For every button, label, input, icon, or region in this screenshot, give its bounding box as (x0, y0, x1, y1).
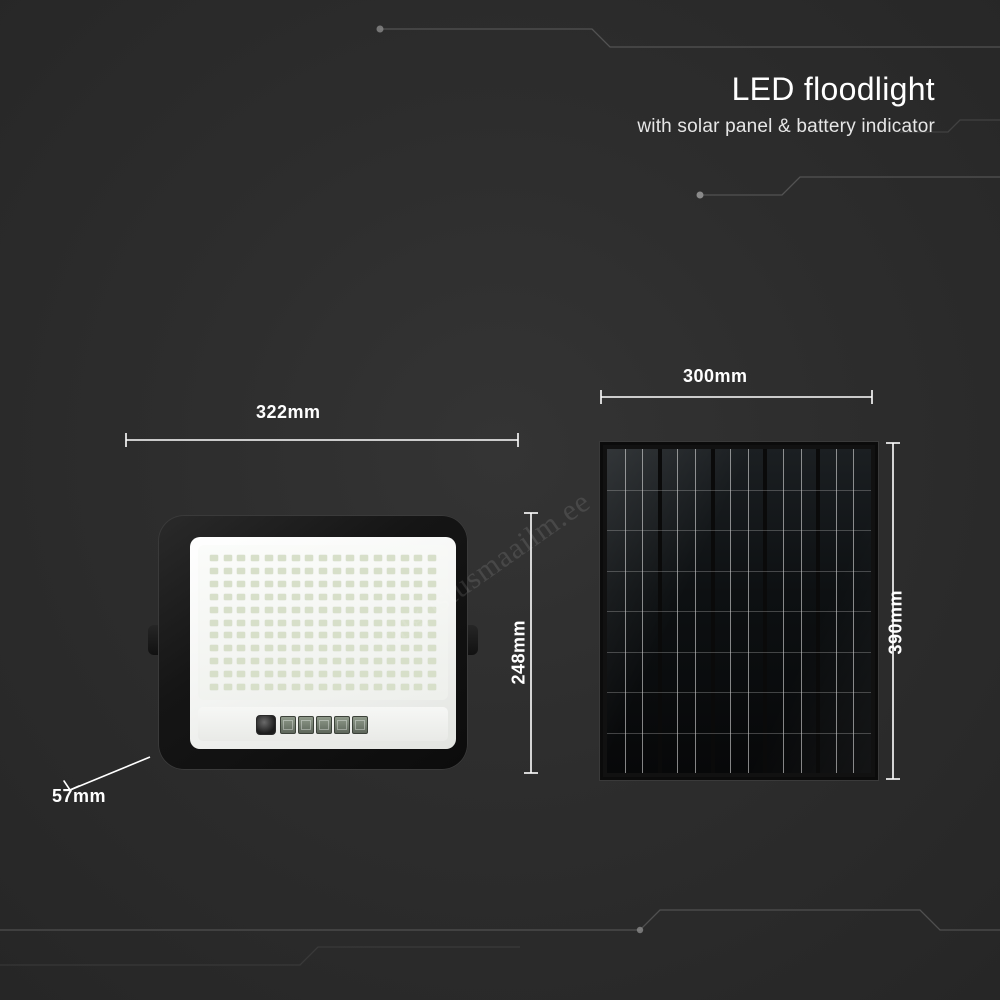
led-chip (224, 581, 232, 587)
led-chip (305, 684, 313, 690)
led-chip (414, 581, 422, 587)
led-chip (305, 645, 313, 651)
dimension-floodlight-width: 322mm (256, 402, 321, 423)
led-chip (237, 645, 245, 651)
led-chip (292, 632, 300, 638)
led-chip (333, 581, 341, 587)
battery-cell (280, 716, 296, 734)
led-chip (292, 594, 300, 600)
solar-cell-row-line (607, 652, 871, 653)
header: LED floodlight with solar panel & batter… (637, 72, 935, 138)
led-chip (210, 620, 218, 626)
led-chip (319, 658, 327, 664)
led-chip (387, 607, 395, 613)
led-chip (278, 555, 286, 561)
floodlight-product (148, 515, 478, 770)
led-chip (414, 684, 422, 690)
led-chip (210, 684, 218, 690)
led-chip (265, 594, 273, 600)
battery-indicator (280, 716, 368, 734)
led-chip (278, 632, 286, 638)
led-chip (401, 607, 409, 613)
led-chip (346, 645, 354, 651)
led-chip (265, 555, 273, 561)
led-chip (333, 568, 341, 574)
led-chip (414, 671, 422, 677)
led-chip (374, 658, 382, 664)
led-chip (237, 620, 245, 626)
led-chip (374, 568, 382, 574)
led-chip (346, 671, 354, 677)
led-chip (278, 671, 286, 677)
led-chip (428, 555, 436, 561)
led-chip (224, 658, 232, 664)
led-chip (346, 620, 354, 626)
led-chip (319, 581, 327, 587)
led-chip (292, 581, 300, 587)
led-chip (428, 632, 436, 638)
led-chip (319, 594, 327, 600)
led-chip (292, 684, 300, 690)
led-chip (428, 581, 436, 587)
dimension-solar-height: 390mm (886, 575, 907, 655)
led-array (198, 545, 448, 700)
led-chip (278, 594, 286, 600)
led-chip (292, 658, 300, 664)
led-chip (251, 658, 259, 664)
led-chip (210, 594, 218, 600)
floodlight-front-face (190, 537, 456, 749)
led-chip (210, 607, 218, 613)
led-chip (360, 620, 368, 626)
led-chip (251, 555, 259, 561)
solar-cell-row-line (607, 733, 871, 734)
dimension-floodlight-depth: 57mm (52, 786, 106, 807)
led-chip (319, 555, 327, 561)
led-chip (374, 581, 382, 587)
led-chip (428, 671, 436, 677)
led-chip (237, 568, 245, 574)
led-chip (360, 684, 368, 690)
led-chip (319, 632, 327, 638)
led-chip (333, 671, 341, 677)
led-chip (278, 607, 286, 613)
battery-cell (298, 716, 314, 734)
led-chip (265, 671, 273, 677)
led-chip (387, 658, 395, 664)
led-chip (333, 684, 341, 690)
led-chip (265, 620, 273, 626)
led-chip (360, 658, 368, 664)
led-chip (278, 645, 286, 651)
page-subtitle: with solar panel & battery indicator (637, 116, 935, 138)
led-chip (237, 632, 245, 638)
led-chip (333, 594, 341, 600)
led-chip (374, 594, 382, 600)
led-chip (401, 671, 409, 677)
led-chip (292, 671, 300, 677)
led-chip (251, 594, 259, 600)
led-chip (428, 684, 436, 690)
floodlight-housing (158, 515, 468, 770)
led-chip (210, 645, 218, 651)
led-chip (374, 607, 382, 613)
led-chip (210, 581, 218, 587)
led-chip (265, 658, 273, 664)
led-chip (210, 658, 218, 664)
led-chip (346, 658, 354, 664)
led-chip (414, 607, 422, 613)
led-chip (224, 671, 232, 677)
led-chip (428, 645, 436, 651)
led-chip (374, 684, 382, 690)
floodlight-lower-panel (198, 707, 448, 741)
product-spec-image: LED floodlight with solar panel & batter… (0, 0, 1000, 1000)
led-chip (387, 671, 395, 677)
led-chip (346, 684, 354, 690)
led-chip (251, 632, 259, 638)
led-chip (333, 632, 341, 638)
led-chip (278, 658, 286, 664)
led-chip (428, 568, 436, 574)
led-chip (210, 671, 218, 677)
dimension-solar-width: 300mm (683, 366, 748, 387)
led-chip (401, 632, 409, 638)
led-chip (360, 581, 368, 587)
led-chip (278, 568, 286, 574)
led-chip (414, 555, 422, 561)
led-chip (387, 568, 395, 574)
led-chip (401, 684, 409, 690)
led-chip (414, 645, 422, 651)
solar-cell-row-line (607, 611, 871, 612)
led-chip (401, 581, 409, 587)
led-chip (346, 607, 354, 613)
led-chip (401, 645, 409, 651)
led-chip (401, 620, 409, 626)
led-chip (265, 632, 273, 638)
led-chip (428, 594, 436, 600)
led-chip (292, 555, 300, 561)
led-chip (346, 581, 354, 587)
led-chip (210, 632, 218, 638)
led-chip (414, 658, 422, 664)
led-chip (319, 671, 327, 677)
led-chip (414, 620, 422, 626)
solar-panel-product (600, 442, 878, 780)
led-chip (360, 555, 368, 561)
led-chip (360, 568, 368, 574)
led-chip (374, 555, 382, 561)
led-chip (251, 568, 259, 574)
led-chip (305, 581, 313, 587)
battery-cell (316, 716, 332, 734)
led-chip (401, 555, 409, 561)
led-chip (237, 684, 245, 690)
led-chip (278, 620, 286, 626)
led-chip (414, 568, 422, 574)
led-chip (305, 607, 313, 613)
solar-cell-row-line (607, 692, 871, 693)
led-chip (251, 620, 259, 626)
led-chip (224, 594, 232, 600)
led-chip (319, 645, 327, 651)
led-chip (251, 645, 259, 651)
led-chip (292, 620, 300, 626)
led-chip (237, 581, 245, 587)
led-chip (305, 555, 313, 561)
led-chip (210, 568, 218, 574)
led-chip (333, 658, 341, 664)
led-chip (333, 555, 341, 561)
led-chip (414, 632, 422, 638)
led-chip (346, 594, 354, 600)
led-chip (401, 594, 409, 600)
led-chip (237, 555, 245, 561)
led-chip (360, 632, 368, 638)
led-chip (333, 620, 341, 626)
led-chip (224, 607, 232, 613)
led-chip (292, 645, 300, 651)
led-chip (224, 632, 232, 638)
led-chip (346, 555, 354, 561)
led-chip (387, 632, 395, 638)
led-chip (305, 671, 313, 677)
led-chip (210, 555, 218, 561)
led-chip (346, 632, 354, 638)
led-chip (428, 658, 436, 664)
led-chip (224, 684, 232, 690)
led-chip (401, 658, 409, 664)
led-chip (387, 620, 395, 626)
led-chip (237, 594, 245, 600)
dimension-floodlight-height: 248mm (509, 605, 530, 685)
led-chip (387, 684, 395, 690)
led-chip (387, 645, 395, 651)
led-chip (292, 568, 300, 574)
led-chip (346, 568, 354, 574)
led-chip (387, 581, 395, 587)
led-chip (360, 594, 368, 600)
led-chip (374, 671, 382, 677)
solar-cell-row-line (607, 490, 871, 491)
led-chip (374, 620, 382, 626)
led-chip (265, 568, 273, 574)
led-chip (401, 568, 409, 574)
led-chip (428, 620, 436, 626)
led-chip (387, 594, 395, 600)
led-chip (360, 671, 368, 677)
led-chip (251, 607, 259, 613)
led-chip (305, 594, 313, 600)
led-chip (265, 581, 273, 587)
led-chip (278, 684, 286, 690)
led-chip (374, 645, 382, 651)
led-chip (305, 568, 313, 574)
solar-cell-row-line (607, 530, 871, 531)
led-chip (278, 581, 286, 587)
led-chip (319, 620, 327, 626)
led-chip (251, 671, 259, 677)
led-chip (251, 684, 259, 690)
battery-cell (334, 716, 350, 734)
led-chip (414, 594, 422, 600)
led-chip (374, 632, 382, 638)
led-chip (360, 607, 368, 613)
led-chip (224, 568, 232, 574)
light-sensor-icon (256, 715, 276, 735)
led-chip (305, 632, 313, 638)
led-chip (224, 555, 232, 561)
led-chip (224, 645, 232, 651)
led-chip (360, 645, 368, 651)
led-chip (387, 555, 395, 561)
led-chip (251, 581, 259, 587)
led-chip (319, 684, 327, 690)
solar-cell-row-line (607, 571, 871, 572)
led-chip (305, 620, 313, 626)
solar-cells (607, 449, 871, 773)
led-chip (224, 620, 232, 626)
led-chip (237, 658, 245, 664)
led-chip (333, 607, 341, 613)
page-title: LED floodlight (637, 72, 935, 107)
battery-cell (352, 716, 368, 734)
led-chip (333, 645, 341, 651)
led-chip (237, 671, 245, 677)
led-chip (292, 607, 300, 613)
led-chip (319, 568, 327, 574)
led-chip (265, 607, 273, 613)
led-chip (265, 645, 273, 651)
led-chip (319, 607, 327, 613)
led-chip (305, 658, 313, 664)
led-chip (237, 607, 245, 613)
led-chip (428, 607, 436, 613)
led-chip (265, 684, 273, 690)
